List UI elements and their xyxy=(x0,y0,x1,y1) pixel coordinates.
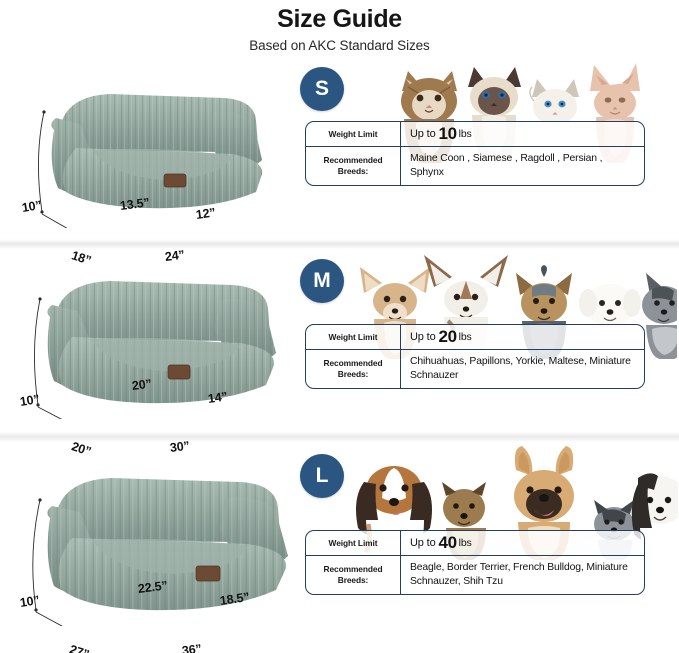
lbs-unit: lbs xyxy=(459,536,472,550)
dim-width-l: 36” xyxy=(181,642,202,653)
spec-table-s: Weight Limit Up to 10 lbs Recommended Br… xyxy=(305,121,645,186)
breeds-value-l: Beagle, Border Terrier, French Bulldog, … xyxy=(401,556,644,594)
info-panel-s: S xyxy=(300,56,679,239)
header: Size Guide Based on AKC Standard Sizes xyxy=(0,0,679,56)
leather-tag xyxy=(168,365,190,379)
recommended-breeds-label: Recommended Breeds: xyxy=(306,350,401,388)
page-title: Size Guide xyxy=(0,4,679,34)
section-divider-2 xyxy=(0,432,679,442)
table-row: Weight Limit Up to 40 lbs xyxy=(306,531,644,555)
dim-inner-length-m: 20” xyxy=(131,377,152,393)
up-to-text: Up to xyxy=(410,330,436,344)
table-row: Recommended Breeds: Maine Coon , Siamese… xyxy=(306,146,644,185)
spec-table-m: Weight Limit Up to 20 lbs Recommended Br… xyxy=(305,324,645,389)
size-badge-m: M xyxy=(300,259,344,303)
leather-tag xyxy=(196,566,220,581)
breeds-value-s: Maine Coon , Siamese , Ragdoll , Persian… xyxy=(401,147,644,185)
recommended-breeds-label: Recommended Breeds: xyxy=(306,147,401,185)
weight-number-m: 20 xyxy=(439,330,457,344)
size-badge-s: S xyxy=(300,67,344,111)
table-row: Weight Limit Up to 10 lbs xyxy=(306,122,644,146)
weight-number-s: 10 xyxy=(439,127,457,141)
table-row: Recommended Breeds: Chihuahuas, Papillon… xyxy=(306,349,644,388)
info-panel-m: M xyxy=(300,249,679,432)
size-guide-page: Size Guide Based on AKC Standard Sizes xyxy=(0,0,679,653)
section-divider-1 xyxy=(0,239,679,249)
bed-illustration-s: 10” 18” 24” 13.5” 12” xyxy=(0,56,300,239)
size-section-s: 10” 18” 24” 13.5” 12” S xyxy=(0,56,679,239)
lbs-unit: lbs xyxy=(459,127,472,141)
dim-inner-width-m: 14” xyxy=(207,389,228,406)
leather-tag xyxy=(164,174,186,187)
schnauzer-dog xyxy=(642,273,677,359)
up-to-text: Up to xyxy=(410,536,436,550)
bed-svg-l xyxy=(14,456,319,626)
up-to-text: Up to xyxy=(410,127,436,141)
table-row: Recommended Breeds: Beagle, Border Terri… xyxy=(306,555,644,594)
bed-illustration-l: 10” 27” 36” 22.5” 18.5” xyxy=(0,442,300,651)
info-panel-l: L xyxy=(300,442,679,651)
bed-svg-m xyxy=(16,259,308,419)
dim-inner-width-s: 12” xyxy=(195,205,216,222)
weight-limit-label: Weight Limit xyxy=(306,122,401,146)
size-section-m: 10” 20” 30” 20” 14” M xyxy=(0,249,679,432)
bed-illustration-m: 10” 20” 30” 20” 14” xyxy=(0,249,300,432)
weight-limit-value: Up to 40 lbs xyxy=(401,531,644,555)
size-section-l: 10” 27” 36” 22.5” 18.5” L xyxy=(0,442,679,651)
weight-limit-value: Up to 10 lbs xyxy=(401,122,644,146)
weight-number-l: 40 xyxy=(439,536,457,550)
weight-limit-label: Weight Limit xyxy=(306,531,401,555)
lbs-unit: lbs xyxy=(459,330,472,344)
weight-limit-value: Up to 20 lbs xyxy=(401,325,644,349)
weight-limit-label: Weight Limit xyxy=(306,325,401,349)
dim-depth-l: 27” xyxy=(68,642,91,653)
breeds-value-m: Chihuahuas, Papillons, Yorkie, Maltese, … xyxy=(401,350,644,388)
recommended-breeds-label: Recommended Breeds: xyxy=(306,556,401,594)
table-row: Weight Limit Up to 20 lbs xyxy=(306,325,644,349)
page-subtitle: Based on AKC Standard Sizes xyxy=(0,36,679,56)
size-badge-l: L xyxy=(300,454,344,498)
bed-svg-s xyxy=(18,68,298,228)
spec-table-l: Weight Limit Up to 40 lbs Recommended Br… xyxy=(305,530,645,595)
